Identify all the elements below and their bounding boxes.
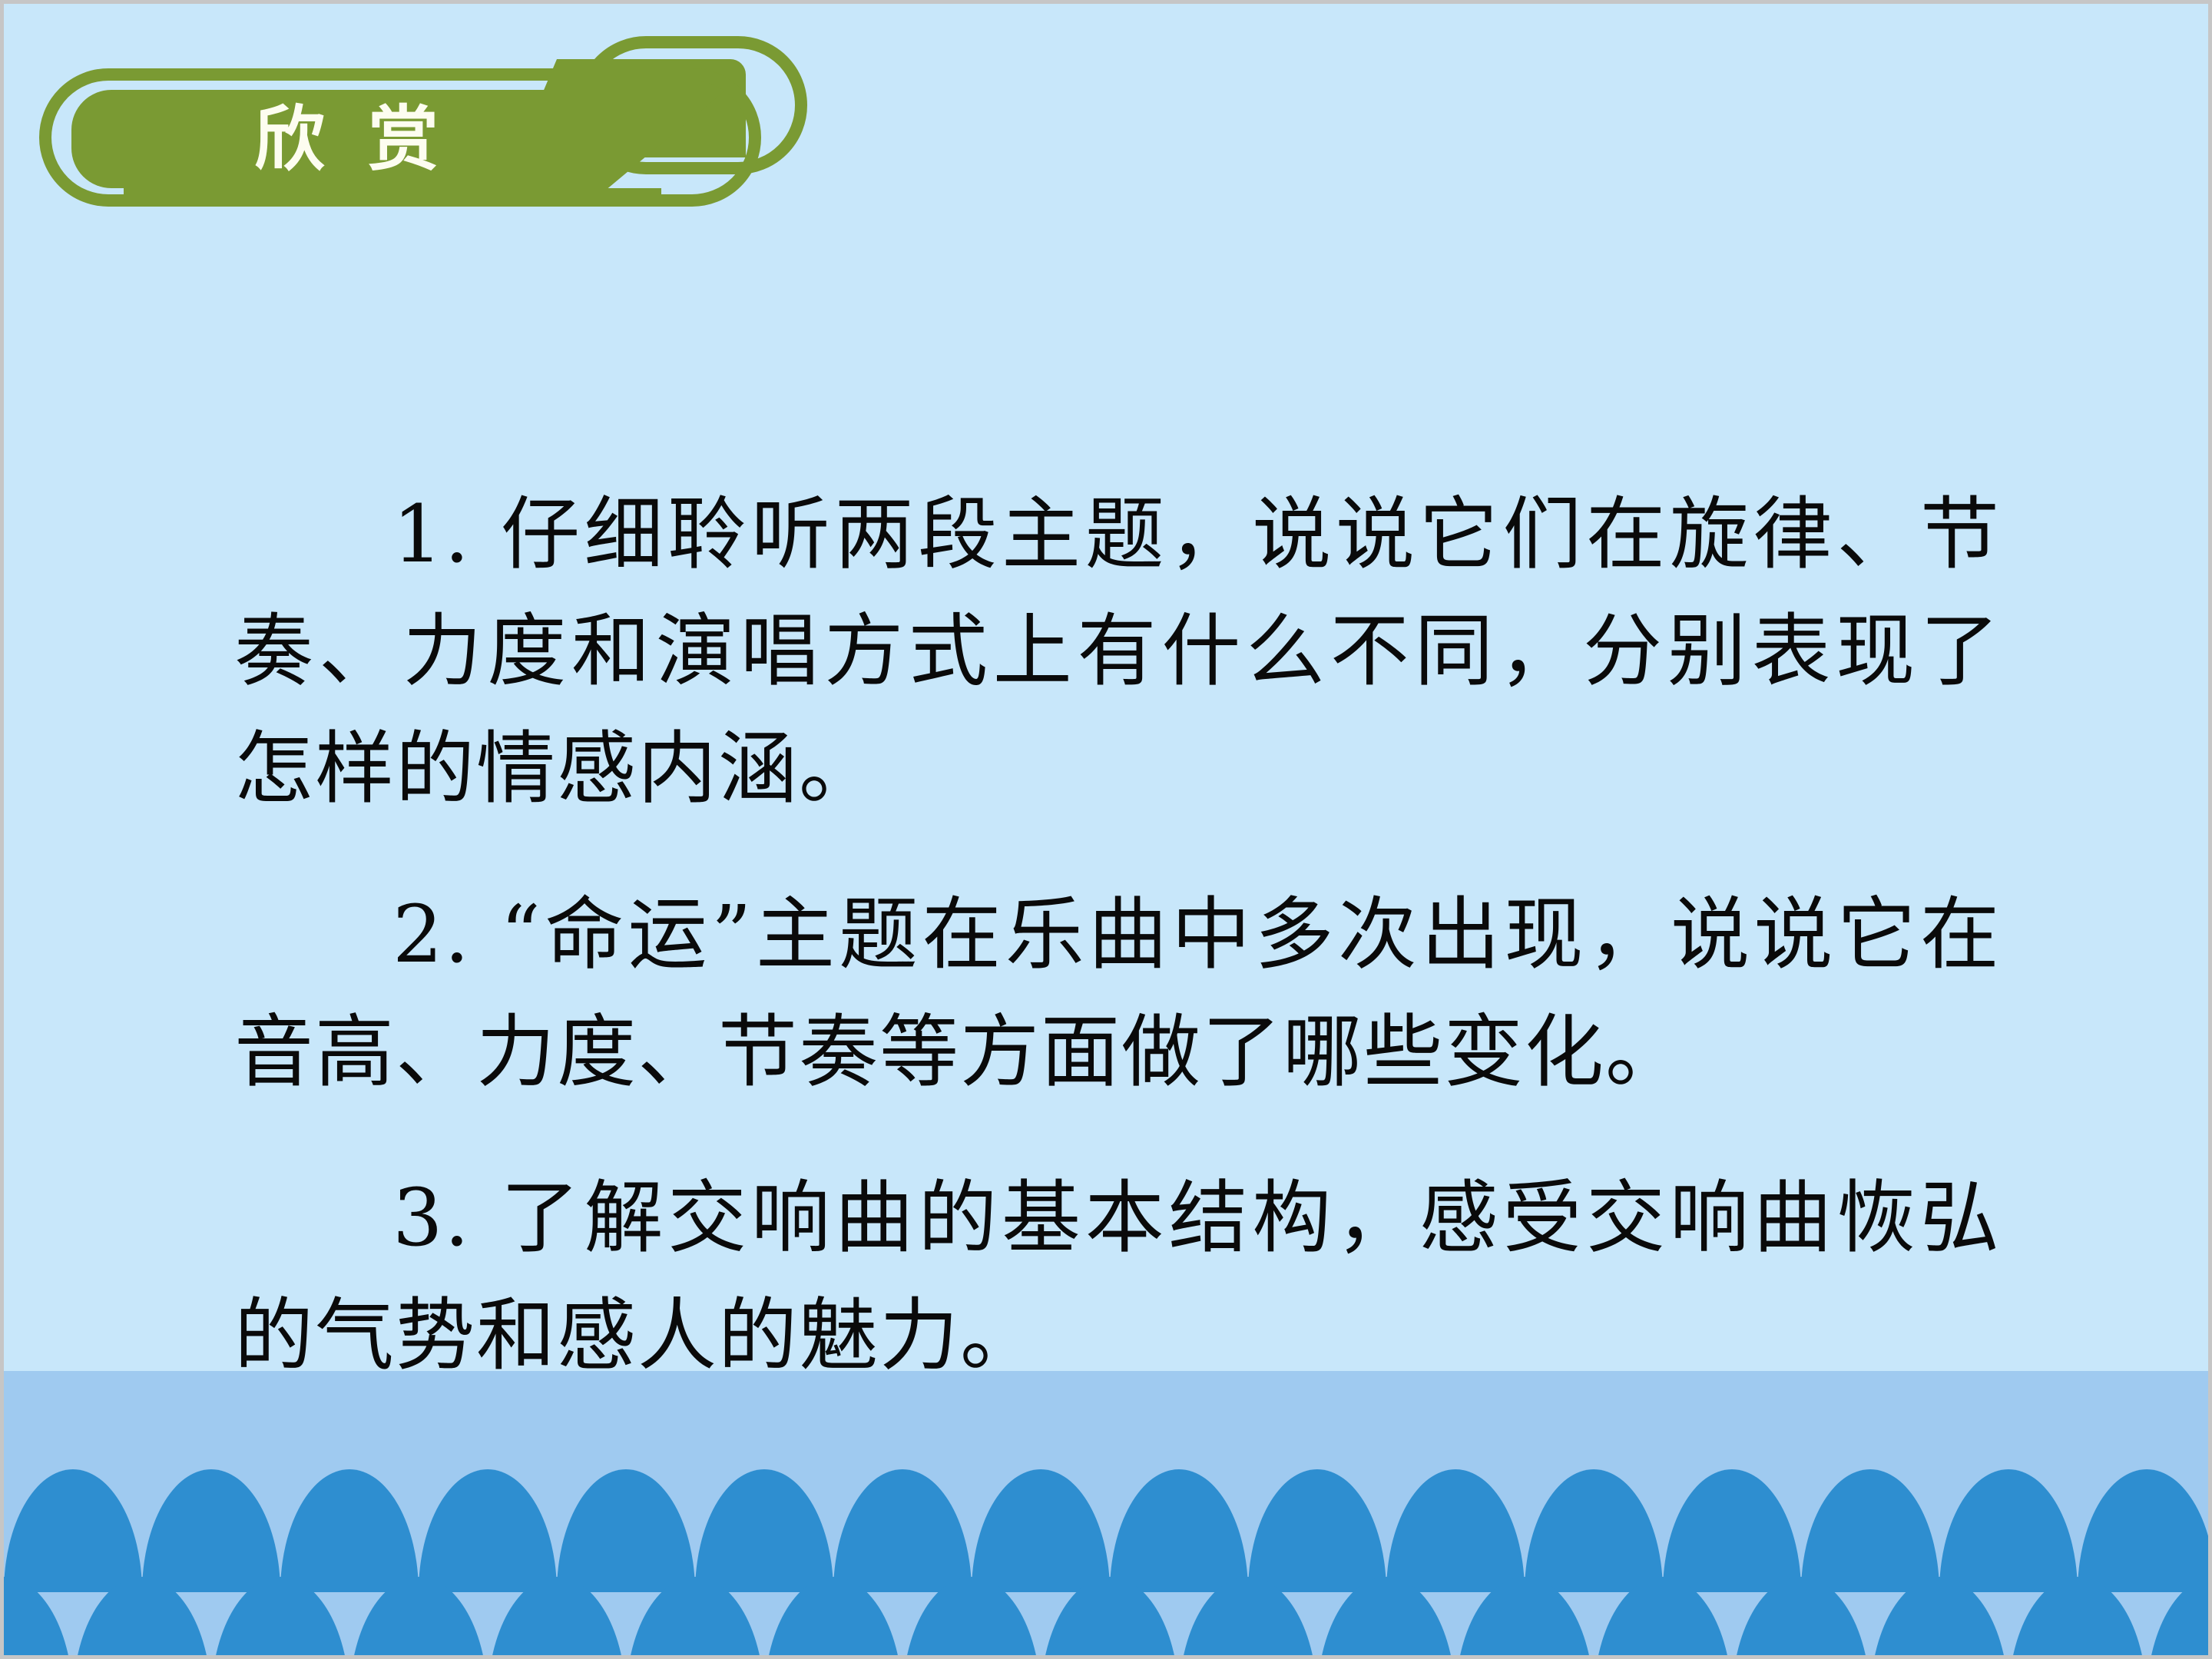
arch-shape	[1663, 1469, 1801, 1592]
badge-underline-bar	[124, 188, 661, 204]
arch-shape	[1455, 1577, 1594, 1659]
arch-shape	[1594, 1577, 1732, 1659]
arch-shape	[764, 1577, 902, 1659]
arch-shape	[1732, 1577, 1870, 1659]
arch-shape	[211, 1577, 349, 1659]
instruction-paragraph-3: 3. 了解交响曲的基本结构，感受交响曲恢弘的气势和感人的魅力。	[234, 1160, 2001, 1394]
arch-shape	[2078, 1469, 2208, 1592]
arch-shape	[902, 1577, 1041, 1659]
arch-shape	[4, 1469, 142, 1592]
arch-row-bottom	[4, 1577, 2208, 1659]
arch-shape	[2008, 1577, 2147, 1659]
arch-shape	[626, 1577, 764, 1659]
arch-shape	[1870, 1577, 2008, 1659]
instruction-paragraph-1: 1. 仔细聆听两段主题，说说它们在旋律、节奏、力度和演唱方式上有什么不同，分别表…	[234, 476, 2001, 827]
arch-shape	[1386, 1469, 1525, 1592]
arch-shape	[1525, 1469, 1663, 1592]
arch-shape	[833, 1469, 972, 1592]
arch-shape	[2147, 1577, 2208, 1659]
arch-shape	[1801, 1469, 1939, 1592]
arch-shape	[73, 1577, 211, 1659]
instruction-paragraph-2: 2. “命运”主题在乐曲中多次出现，说说它在音高、力度、节奏等方面做了哪些变化。	[234, 876, 2001, 1111]
arch-shape	[142, 1469, 280, 1592]
arch-shape	[4, 1577, 73, 1659]
arch-shape	[1110, 1469, 1248, 1592]
arch-shape	[349, 1577, 488, 1659]
arch-shape	[1248, 1469, 1386, 1592]
arch-shape	[280, 1469, 419, 1592]
arch-shape	[1317, 1577, 1455, 1659]
arch-shape	[1041, 1577, 1179, 1659]
title-badge: 欣赏	[39, 36, 823, 220]
arch-shape	[1939, 1469, 2078, 1592]
arch-shape	[419, 1469, 557, 1592]
arch-row-top	[4, 1469, 2208, 1592]
slide-canvas: 欣赏 1. 仔细聆听两段主题，说说它们在旋律、节奏、力度和演唱方式上有什么不同，…	[0, 0, 2212, 1659]
arch-shape	[488, 1577, 626, 1659]
arch-shape	[557, 1469, 695, 1592]
arch-shape	[695, 1469, 833, 1592]
page-title: 欣赏	[39, 90, 654, 188]
content-body: 1. 仔细聆听两段主题，说说它们在旋律、节奏、力度和演唱方式上有什么不同，分别表…	[234, 476, 2001, 1394]
bottom-decoration-band	[4, 1371, 2208, 1659]
arch-shape	[1179, 1577, 1317, 1659]
arch-shape	[972, 1469, 1110, 1592]
